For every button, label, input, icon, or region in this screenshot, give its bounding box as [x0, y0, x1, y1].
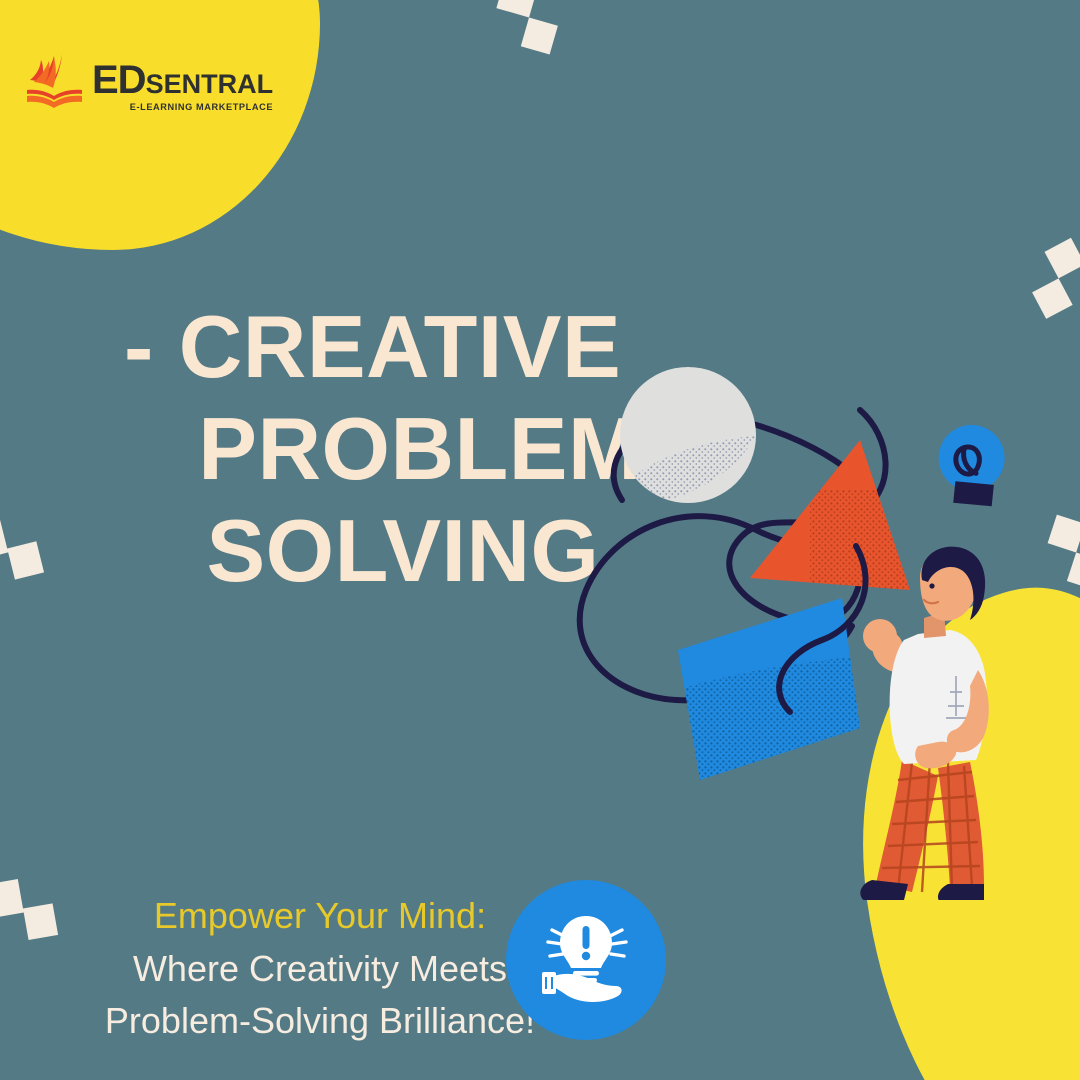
- logo-tagline: E-LEARNING MARKETPLACE: [130, 103, 273, 112]
- top-left-yellow-blob: [0, 0, 320, 250]
- brand-logo[interactable]: ED SENTRAL E-LEARNING MARKETPLACE: [24, 52, 273, 114]
- status-badge: [506, 880, 666, 1040]
- standing-person-illustration: [860, 547, 988, 900]
- grey-circle-shape: [618, 367, 756, 506]
- zigzag-decoration-left-mid: [0, 495, 79, 606]
- blue-lightbulb-icon: [931, 417, 1018, 517]
- poster-canvas: ED SENTRAL E-LEARNING MARKETPLACE - CREA…: [0, 0, 1080, 1080]
- open-book-flame-icon: [24, 52, 88, 114]
- logo-wordmark: ED SENTRAL E-LEARNING MARKETPLACE: [92, 60, 273, 114]
- hero-illustration: [560, 340, 1080, 900]
- hand-holding-idea-lightbulb-icon: [532, 906, 640, 1014]
- logo-name-bold: ED: [92, 60, 146, 100]
- zigzag-decoration-top: [477, 0, 583, 78]
- tagline-line-3: Problem-Solving Brilliance!: [40, 995, 600, 1048]
- zigzag-decoration-right-top: [1008, 218, 1080, 326]
- logo-name-rest: SENTRAL: [146, 71, 274, 98]
